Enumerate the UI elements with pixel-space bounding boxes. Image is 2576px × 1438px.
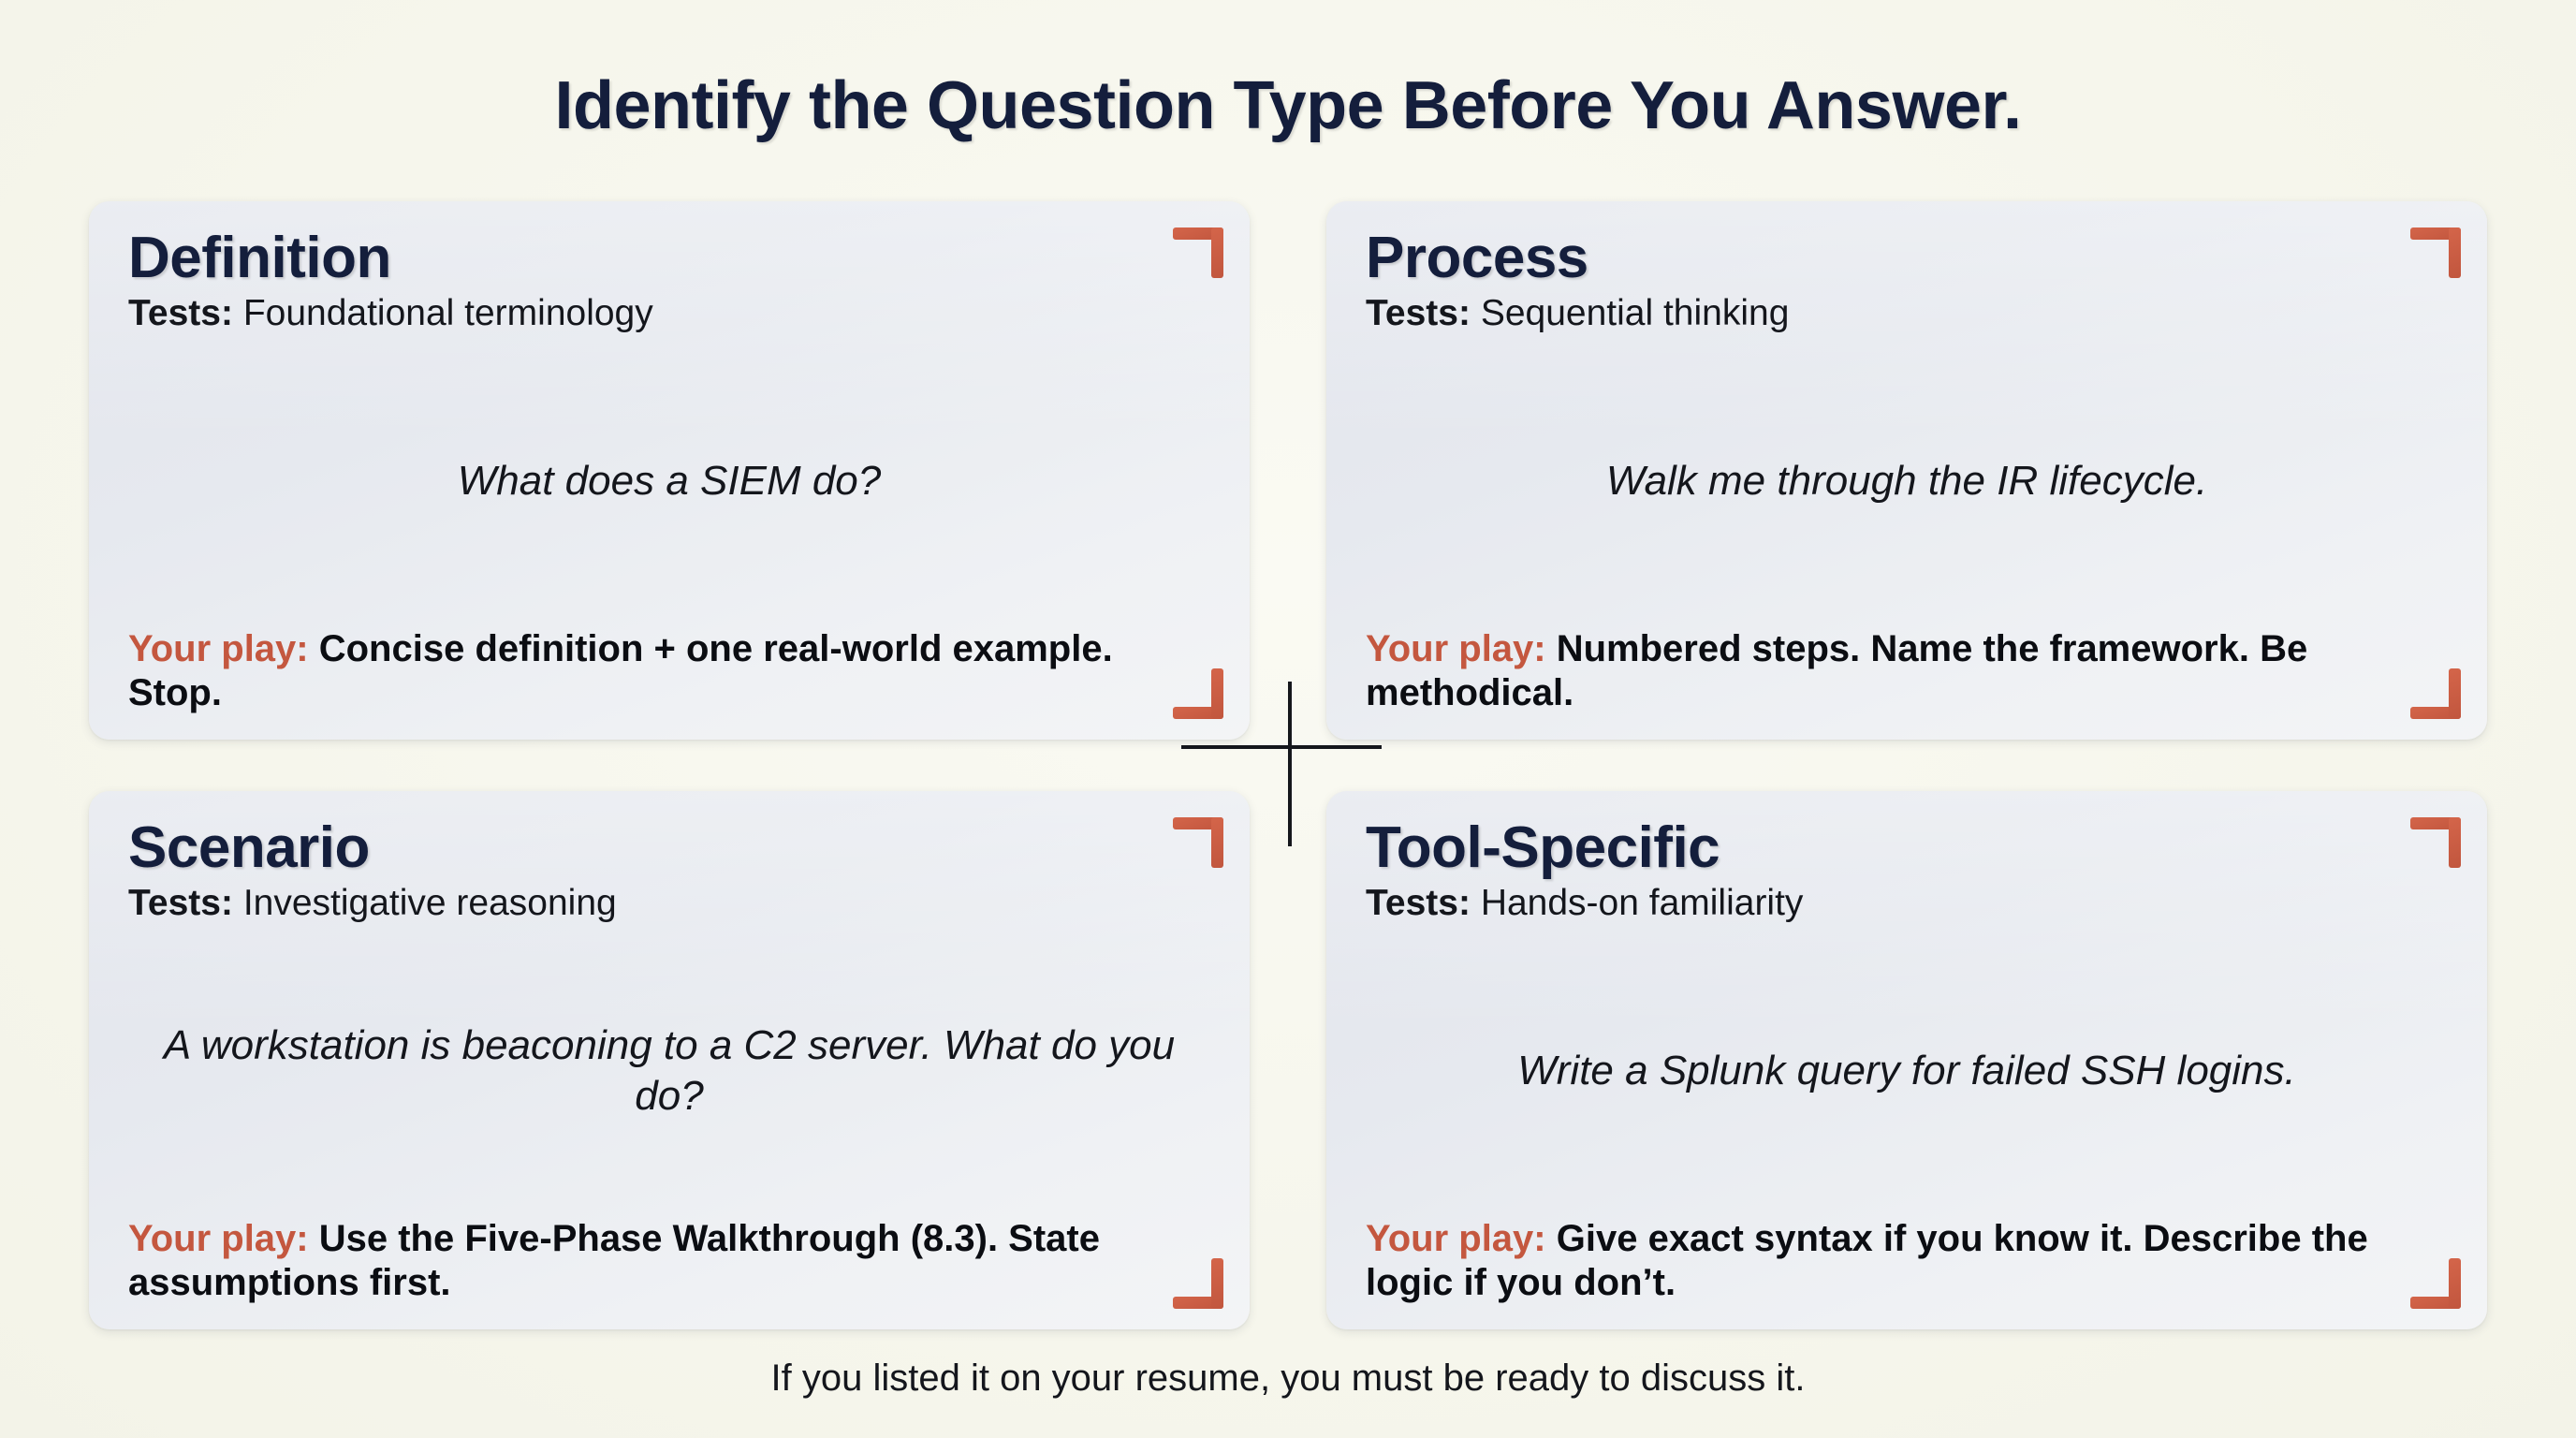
card-definition: Definition Tests: Foundational terminolo… <box>89 201 1250 740</box>
card-question: Walk me through the IR lifecycle. <box>1597 456 2217 506</box>
card-process: Process Tests: Sequential thinking Walk … <box>1326 201 2487 740</box>
tests-label: Tests: <box>1366 293 1481 333</box>
card-heading: Scenario <box>128 819 1210 877</box>
card-tests-line: Tests: Sequential thinking <box>1366 293 2448 335</box>
card-play-line: Your play: Use the Five-Phase Walkthroug… <box>128 1217 1210 1305</box>
card-question: What does a SIEM do? <box>448 456 890 506</box>
tests-value: Hands-on familiarity <box>1481 883 1804 923</box>
tests-label: Tests: <box>1366 883 1481 923</box>
card-heading: Tool-Specific <box>1366 819 2448 877</box>
card-scenario: Scenario Tests: Investigative reasoning … <box>89 791 1250 1329</box>
tests-label: Tests: <box>128 883 243 923</box>
card-heading: Definition <box>128 229 1210 287</box>
card-tool-specific: Tool-Specific Tests: Hands-on familiarit… <box>1326 791 2487 1329</box>
page-title: Identify the Question Type Before You An… <box>0 69 2576 143</box>
play-label: Your play: <box>128 628 319 669</box>
card-play-line: Your play: Numbered steps. Name the fram… <box>1366 627 2448 715</box>
question-type-grid: Definition Tests: Foundational terminolo… <box>89 201 2487 1329</box>
tests-value: Investigative reasoning <box>243 883 617 923</box>
play-label: Your play: <box>128 1218 319 1259</box>
play-label: Your play: <box>1366 1218 1557 1259</box>
card-heading: Process <box>1366 229 2448 287</box>
card-tests-line: Tests: Foundational terminology <box>128 293 1210 335</box>
card-tests-line: Tests: Hands-on familiarity <box>1366 883 2448 925</box>
tests-value: Foundational terminology <box>243 293 653 333</box>
card-play-line: Your play: Give exact syntax if you know… <box>1366 1217 2448 1305</box>
poster-canvas: Identify the Question Type Before You An… <box>0 0 2576 1438</box>
card-play-line: Your play: Concise definition + one real… <box>128 627 1210 715</box>
card-question: Write a Splunk query for failed SSH logi… <box>1508 1046 2305 1096</box>
tests-value: Sequential thinking <box>1481 293 1790 333</box>
card-tests-line: Tests: Investigative reasoning <box>128 883 1210 925</box>
card-question: A workstation is beaconing to a C2 serve… <box>128 1020 1210 1121</box>
play-label: Your play: <box>1366 628 1557 669</box>
tests-label: Tests: <box>128 293 243 333</box>
footer-caption: If you listed it on your resume, you mus… <box>0 1356 2576 1401</box>
